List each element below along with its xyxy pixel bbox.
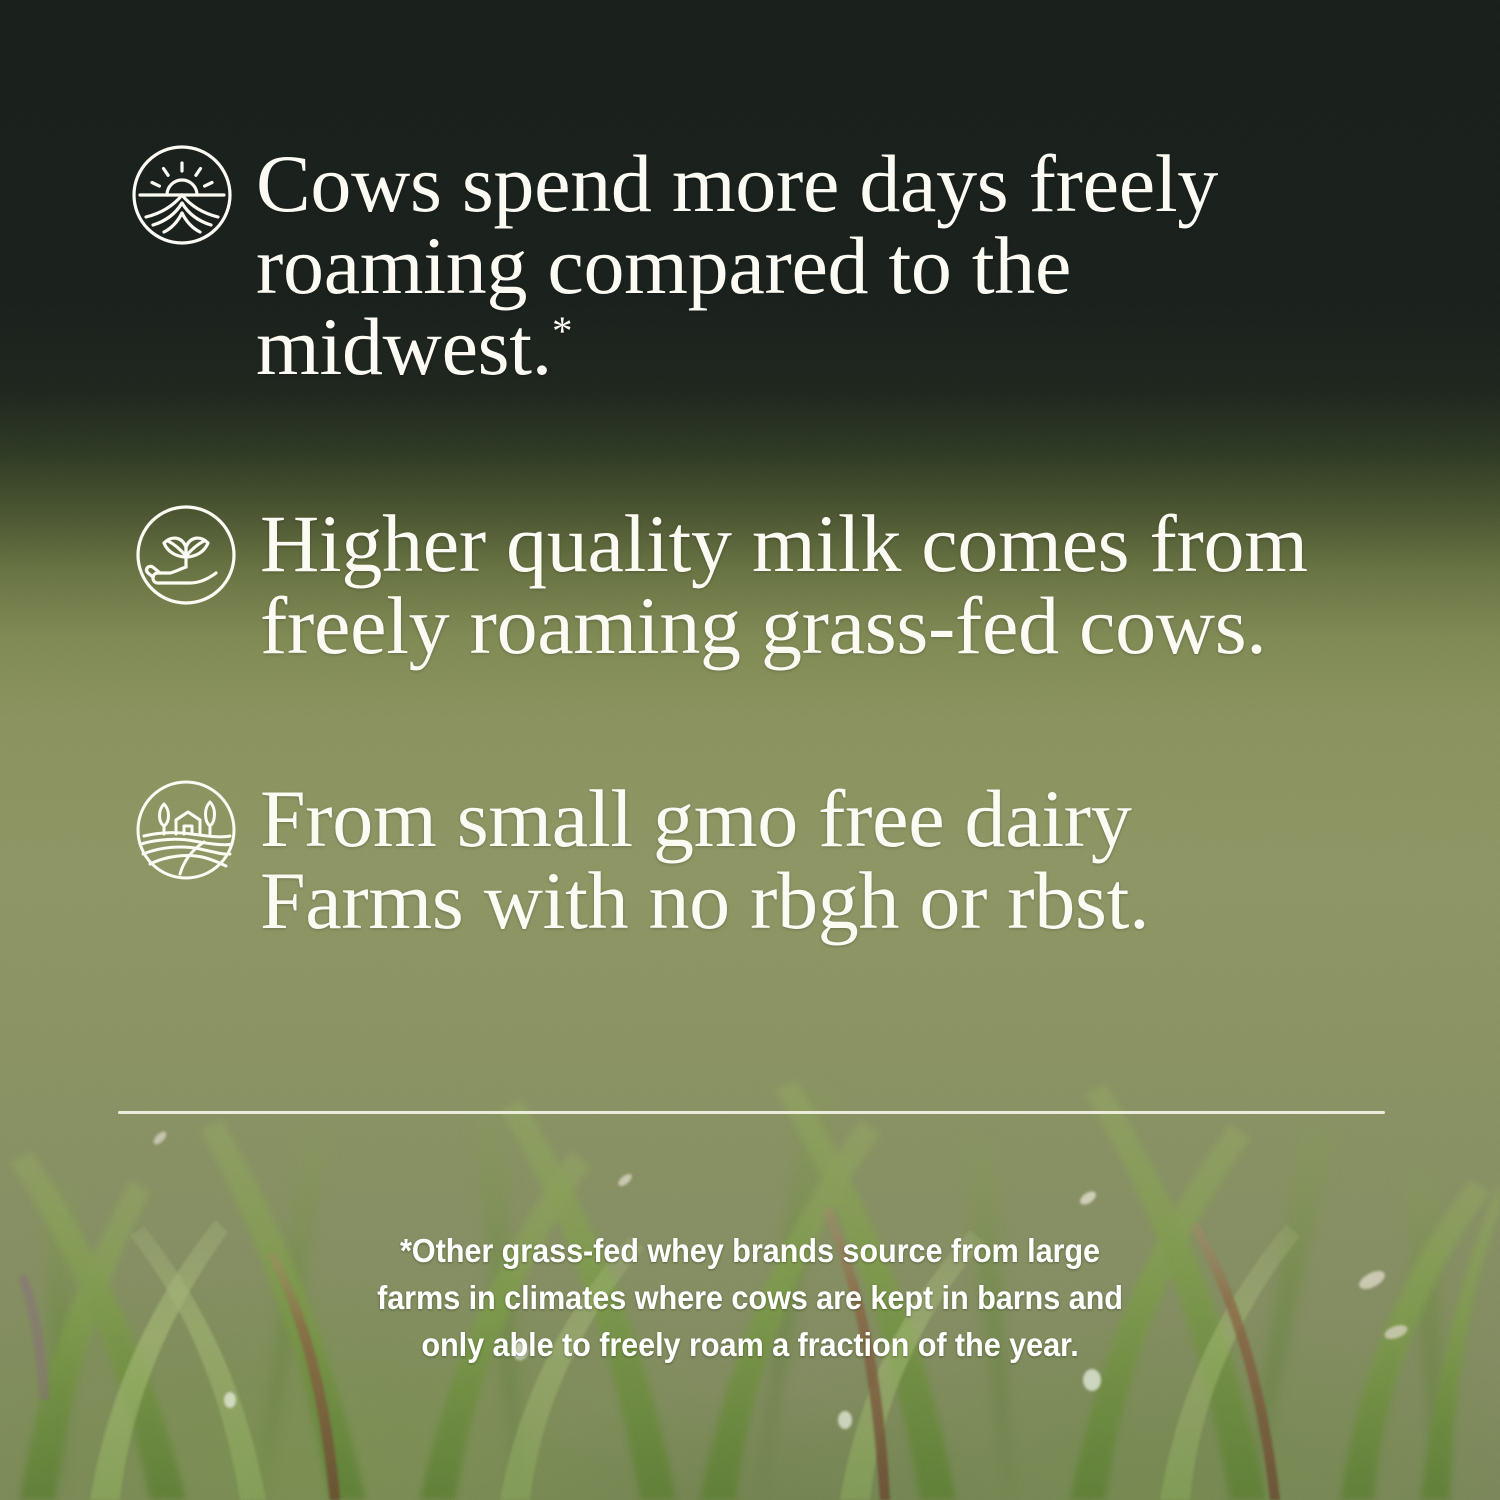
footnote-line-2: farms in climates where cows are kept in… xyxy=(285,1275,1215,1322)
footnote-disclaimer: *Other grass-fed whey brands source from… xyxy=(285,1228,1215,1369)
product-feature-poster: Cows spend more days freely roaming comp… xyxy=(0,0,1500,1500)
benefit-text: Cows spend more days freely roaming comp… xyxy=(256,143,1356,388)
benefit-item: Cows spend more days freely roaming comp… xyxy=(130,143,1360,388)
section-divider xyxy=(118,1111,1385,1114)
benefit-text: From small gmo free dairy Farms with no … xyxy=(260,778,1300,941)
farm-barn-fields-icon xyxy=(134,778,238,882)
footnote-line-1: *Other grass-fed whey brands source from… xyxy=(285,1228,1215,1275)
footnote-line-3: only able to freely roam a fraction of t… xyxy=(285,1322,1215,1369)
benefit-text: Higher quality milk comes from freely ro… xyxy=(260,503,1450,666)
sunrise-over-field-icon xyxy=(130,143,234,247)
benefit-item: Higher quality milk comes from freely ro… xyxy=(134,503,1454,666)
hand-holding-sprout-icon xyxy=(134,503,238,607)
poster-content: Cows spend more days freely roaming comp… xyxy=(0,0,1500,1500)
footnote-marker: * xyxy=(552,308,573,354)
benefit-item: From small gmo free dairy Farms with no … xyxy=(134,778,1314,941)
